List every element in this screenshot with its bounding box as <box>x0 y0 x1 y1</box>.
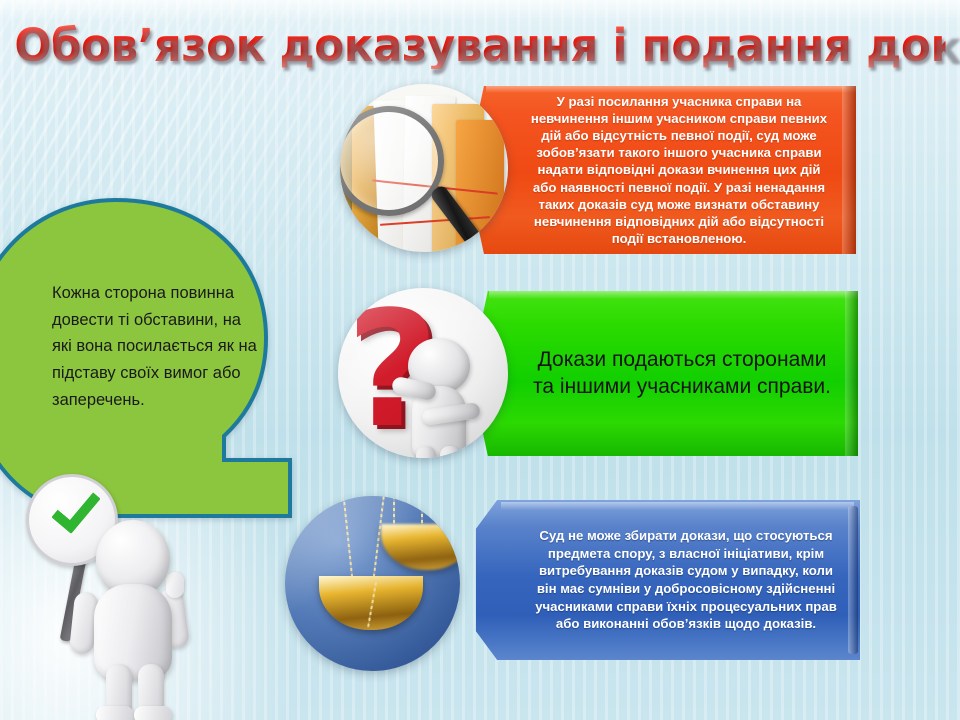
banner-green-text: Докази подаються сторонами та іншими уча… <box>470 341 858 405</box>
scale-pan-back <box>381 524 460 570</box>
banner-green-right-bevel <box>845 291 858 456</box>
page-title: Обов’язок доказування і подання доказів <box>14 22 945 69</box>
banner-orange-text: У разі посилання учасника справи на невч… <box>466 87 856 253</box>
banner-orange-top-bevel <box>486 86 857 93</box>
banner-green: Докази подаються сторонами та іншими уча… <box>470 291 858 456</box>
slide-canvas: Обов’язок доказування і подання доказів … <box>0 0 960 720</box>
scales-of-justice-photo <box>285 496 460 671</box>
banner-orange-right-bevel <box>842 86 856 254</box>
mascot-left-foot <box>96 706 134 720</box>
question-mark-photo: ? <box>338 288 508 458</box>
documents-magnifier-photo <box>340 84 508 252</box>
mascot-thumbs-up <box>10 468 210 720</box>
check-mark-icon <box>51 482 100 534</box>
banner-blue-text: Суд не може збирати докази, що стосуютьс… <box>474 521 860 639</box>
mascot-torso <box>94 584 172 680</box>
folder-stack-illustration <box>340 90 508 252</box>
banner-orange: У разі посилання учасника справи на невч… <box>466 86 856 254</box>
banner-blue: Суд не може збирати докази, що стосуютьс… <box>474 500 860 660</box>
banner-blue-right-bevel <box>848 506 858 654</box>
thumbs-up-icon <box>166 572 184 598</box>
banner-green-top-bevel <box>489 291 858 299</box>
mascot-right-foot <box>134 706 172 720</box>
banner-blue-top-bevel <box>501 502 854 510</box>
speech-bubble-text: Кожна сторона повинна довести ті обстави… <box>52 280 264 414</box>
